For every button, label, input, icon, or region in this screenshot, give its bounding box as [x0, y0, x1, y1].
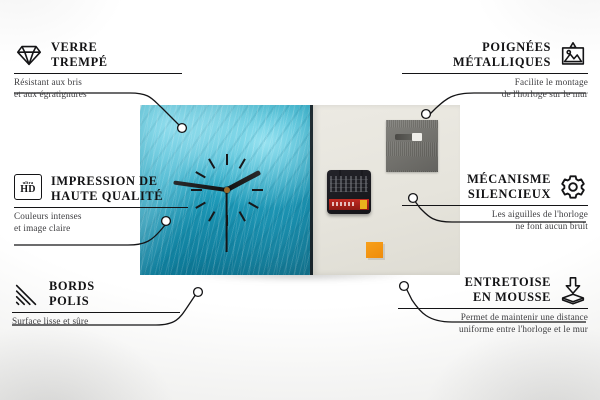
- callout-bords-polis[interactable]: BORDS POLIS Surface lisse et sûre: [12, 279, 180, 328]
- callout-sub-line1: Les aiguilles de l'horloge: [492, 209, 588, 219]
- callout-title-line2: TREMPÉ: [51, 55, 108, 69]
- callout-sub-line2: et image claire: [14, 223, 70, 233]
- picture-frame-hanging-icon: [558, 40, 588, 70]
- gear-icon: [558, 172, 588, 202]
- callout-sub-line2: ne font aucun bruit: [515, 221, 588, 231]
- ultra-hd-icon-main-text: HD: [20, 185, 36, 195]
- callout-title-line2: HAUTE QUALITÉ: [51, 189, 163, 203]
- callout-title-line1: IMPRESSION DE: [51, 174, 158, 188]
- callout-divider: [12, 312, 180, 313]
- callout-title-line1: BORDS: [49, 279, 95, 293]
- callout-title-line1: POIGNÉES: [482, 40, 551, 54]
- callout-sub-line2: de l'horloge sur le mur: [502, 89, 588, 99]
- hanger-slot: [395, 134, 422, 140]
- callout-verre-trempe[interactable]: VERRE TREMPÉ Résistant aux bris et aux é…: [14, 40, 182, 100]
- ultra-hd-icon: ultra HD: [14, 174, 44, 204]
- callout-sub-line2: et aux égratignures: [14, 89, 87, 99]
- callout-title-line2: SILENCIEUX: [468, 187, 551, 201]
- callout-subtitle: Résistant aux bris et aux égratignures: [14, 77, 182, 100]
- callout-title-line2: EN MOUSSE: [473, 290, 551, 304]
- callout-subtitle: Couleurs intenses et image claire: [14, 211, 188, 234]
- callout-divider: [14, 207, 188, 208]
- callout-title-line2: POLIS: [49, 294, 89, 308]
- callout-divider: [402, 205, 588, 206]
- infographic-canvas: VERRE TREMPÉ Résistant aux bris et aux é…: [0, 0, 600, 400]
- callout-header: ENTRETOISE EN MOUSSE: [398, 275, 588, 305]
- callout-sub-line1: Facilite le montage: [515, 77, 588, 87]
- callout-title: VERRE TREMPÉ: [51, 40, 108, 70]
- callout-poignees-metalliques[interactable]: POIGNÉES MÉTALLIQUES Facilite le montage…: [402, 40, 588, 100]
- callout-title-line1: MÉCANISME: [467, 172, 551, 186]
- callout-divider: [398, 308, 588, 309]
- callout-header: POIGNÉES MÉTALLIQUES: [402, 40, 588, 70]
- callout-impression-haute-qualite[interactable]: ultra HD IMPRESSION DE HAUTE QUALITÉ Cou…: [14, 174, 188, 234]
- diamond-icon: [14, 40, 44, 70]
- callout-title: ENTRETOISE EN MOUSSE: [465, 275, 551, 305]
- callout-sub-line1: Couleurs intenses: [14, 211, 82, 221]
- callout-subtitle: Permet de maintenir une distance uniform…: [398, 312, 588, 335]
- callout-subtitle: Facilite le montage de l'horloge sur le …: [402, 77, 588, 100]
- clock-mechanism-box: [327, 170, 371, 214]
- foam-spacer: [366, 242, 383, 258]
- callout-title-line1: VERRE: [51, 40, 97, 54]
- callout-sub-line1: Résistant aux bris: [14, 77, 82, 87]
- callout-sub-line1: Permet de maintenir une distance: [461, 312, 588, 322]
- callout-title: BORDS POLIS: [49, 279, 95, 309]
- callout-mecanisme-silencieux[interactable]: MÉCANISME SILENCIEUX Les aiguilles de l'…: [402, 172, 588, 232]
- mechanism-label-print: [330, 176, 368, 192]
- callout-header: BORDS POLIS: [12, 279, 180, 309]
- metal-hanger-plate: [386, 120, 438, 172]
- callout-title: POIGNÉES MÉTALLIQUES: [453, 40, 551, 70]
- callout-divider: [14, 73, 182, 74]
- callout-title: MÉCANISME SILENCIEUX: [467, 172, 551, 202]
- callout-divider: [402, 73, 588, 74]
- callout-entretoise-en-mousse[interactable]: ENTRETOISE EN MOUSSE Permet de maintenir…: [398, 275, 588, 335]
- callout-title-line2: MÉTALLIQUES: [453, 55, 551, 69]
- callout-title-line1: ENTRETOISE: [465, 275, 551, 289]
- foam-spacer-arrow-icon: [558, 275, 588, 305]
- clock-second-hand: [226, 190, 228, 252]
- callout-sub-line2: uniforme entre l'horloge et le mur: [459, 324, 588, 334]
- callout-subtitle: Surface lisse et sûre: [12, 316, 180, 327]
- callout-header: MÉCANISME SILENCIEUX: [402, 172, 588, 202]
- callout-header: VERRE TREMPÉ: [14, 40, 182, 70]
- callout-title: IMPRESSION DE HAUTE QUALITÉ: [51, 174, 163, 204]
- callout-subtitle: Les aiguilles de l'horloge ne font aucun…: [402, 209, 588, 232]
- polished-edge-icon: [12, 279, 42, 309]
- callout-sub-line1: Surface lisse et sûre: [12, 316, 88, 326]
- clock-center-cap: [224, 187, 230, 193]
- callout-header: ultra HD IMPRESSION DE HAUTE QUALITÉ: [14, 174, 188, 204]
- battery: [329, 199, 369, 210]
